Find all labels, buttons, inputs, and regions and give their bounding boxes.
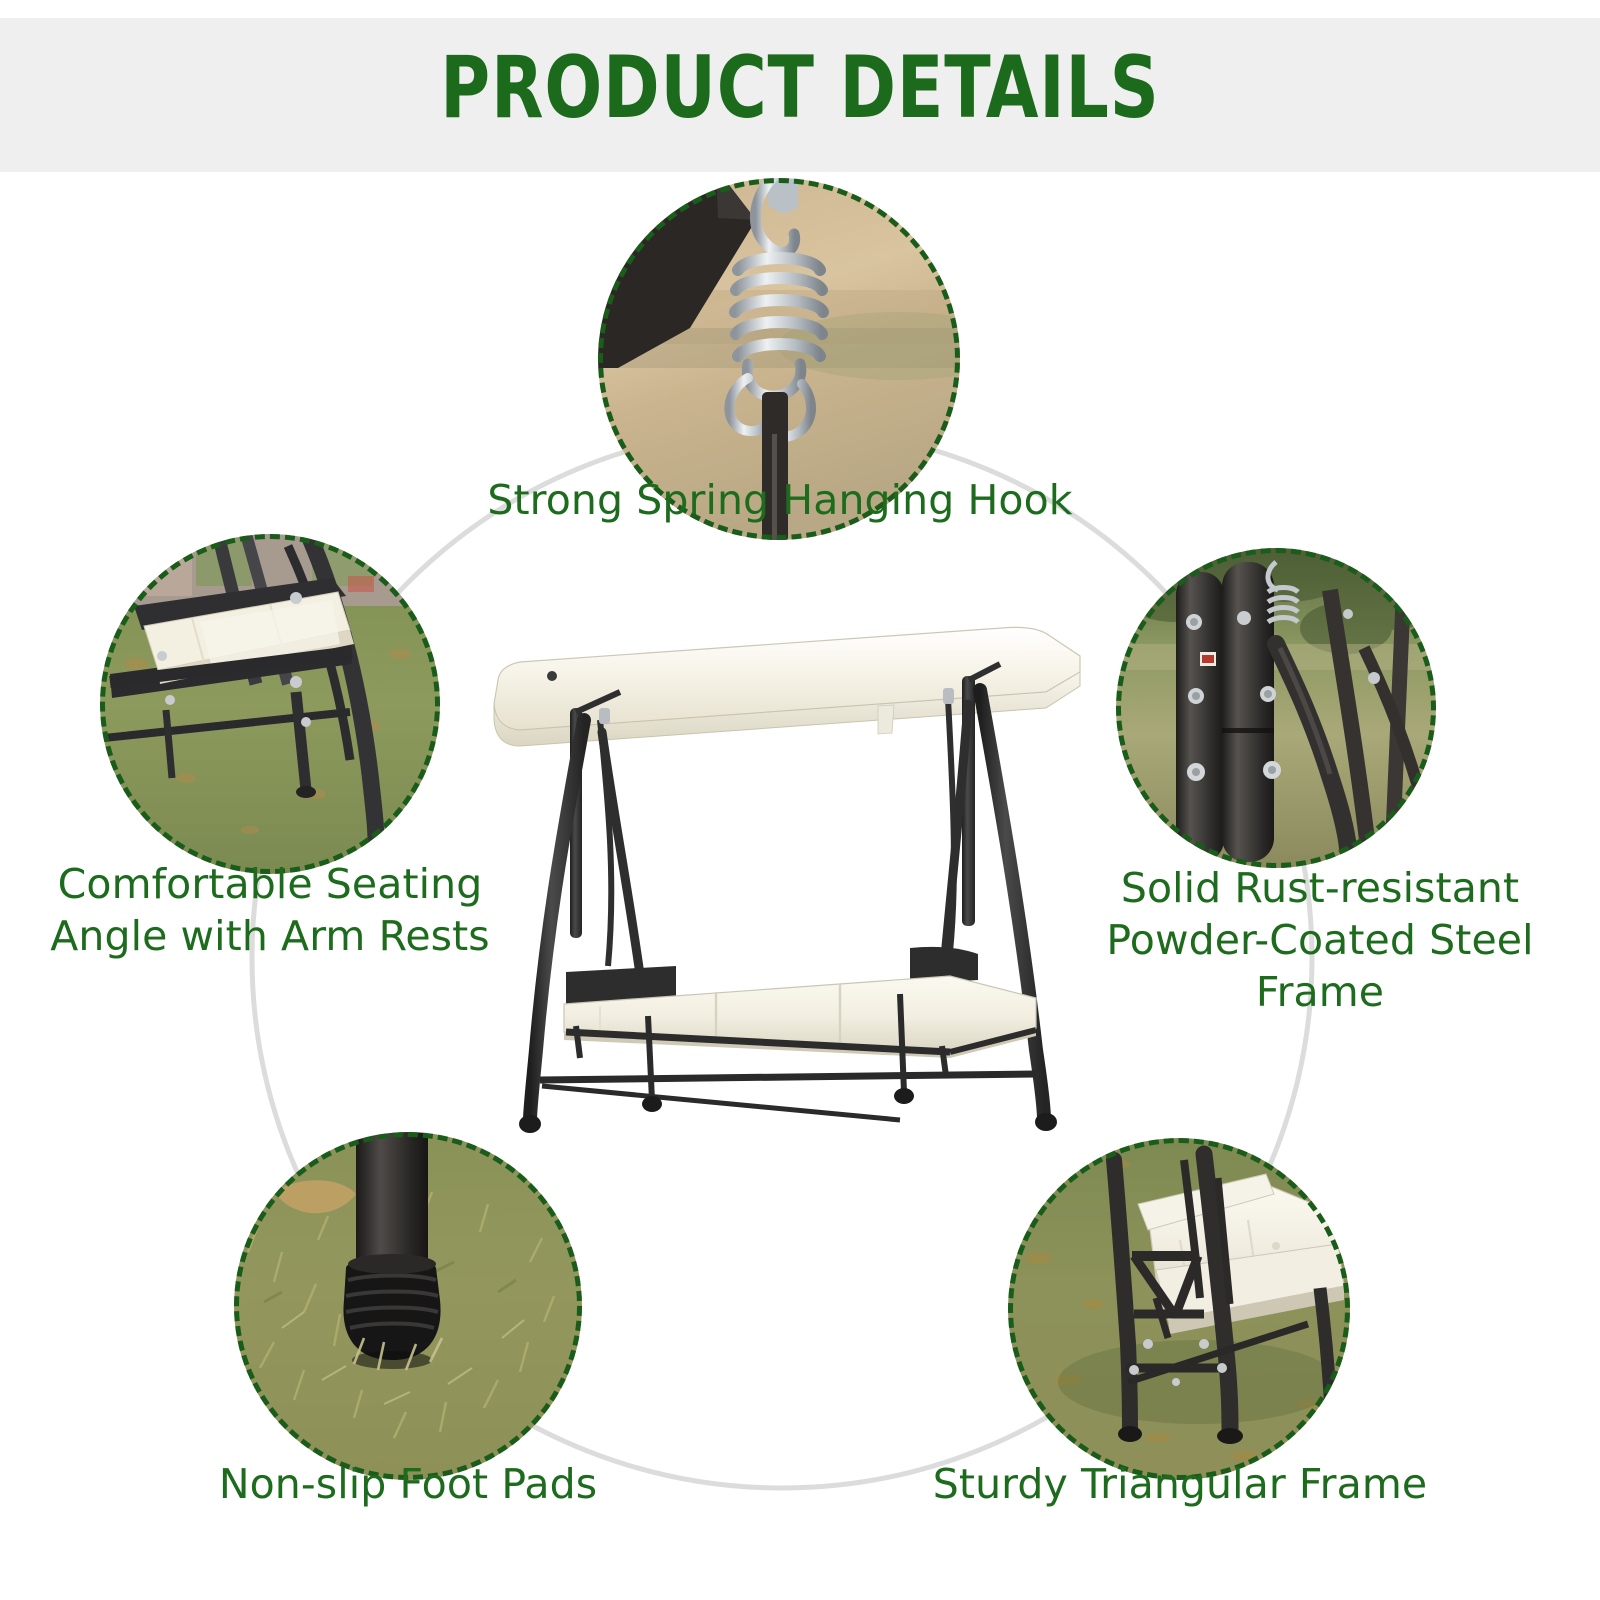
seating-angle-photo [100, 534, 440, 874]
triangular-frame-label: Sturdy Triangular Frame [930, 1458, 1430, 1510]
infographic-page: PRODUCT DETAILS [0, 0, 1600, 1600]
product-image [480, 580, 1100, 1140]
steel-frame-label: Solid Rust-resistant Powder-Coated Steel… [1036, 862, 1600, 1018]
spring-hook-label: Strong Spring Hanging Hook [430, 474, 1130, 526]
triangular-frame-photo [1008, 1138, 1350, 1480]
foot-pads-photo [234, 1132, 582, 1480]
foot-pads-label: Non-slip Foot Pads [158, 1458, 658, 1510]
steel-frame-photo [1116, 548, 1436, 868]
seating-angle-label: Comfortable Seating Angle with Arm Rests [18, 858, 522, 962]
